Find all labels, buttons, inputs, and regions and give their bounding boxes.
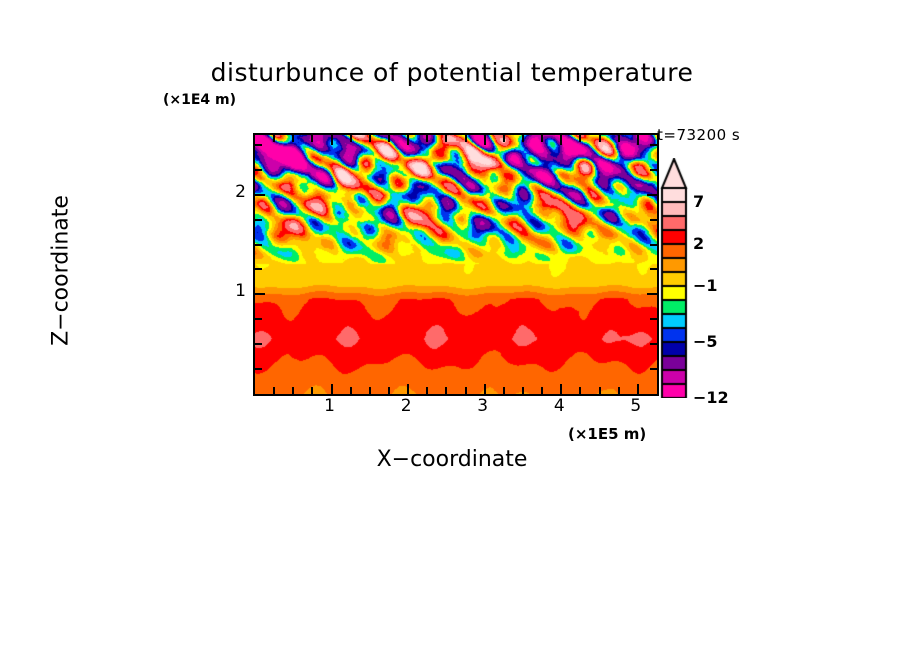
x-minor-tick-top bbox=[579, 135, 581, 142]
x-minor-tick bbox=[292, 387, 294, 394]
figure-canvas: disturbunce of potential temperature (×1… bbox=[0, 0, 904, 654]
x-minor-tick bbox=[541, 387, 543, 394]
x-axis-unit-label: (×1E5 m) bbox=[568, 425, 646, 443]
y-major-tick bbox=[255, 293, 265, 295]
y-minor-tick-right bbox=[650, 169, 657, 171]
x-major-tick bbox=[560, 384, 562, 394]
y-minor-tick-right bbox=[650, 144, 657, 146]
y-major-tick bbox=[255, 194, 265, 196]
x-tick-label: 4 bbox=[539, 396, 579, 416]
x-major-tick bbox=[484, 384, 486, 394]
y-minor-tick bbox=[255, 144, 262, 146]
x-major-tick bbox=[407, 384, 409, 394]
x-minor-tick-top bbox=[465, 135, 467, 142]
y-tick-label: 1 bbox=[216, 281, 246, 301]
x-major-tick-top bbox=[560, 135, 562, 145]
colorbar-tick-label: −5 bbox=[693, 332, 718, 351]
x-minor-tick bbox=[311, 387, 313, 394]
y-minor-tick-right bbox=[650, 343, 657, 345]
x-major-tick-top bbox=[484, 135, 486, 145]
x-tick-label: 5 bbox=[616, 396, 656, 416]
x-minor-tick-top bbox=[503, 135, 505, 142]
x-minor-tick-top bbox=[445, 135, 447, 142]
x-major-tick-top bbox=[407, 135, 409, 145]
x-minor-tick bbox=[465, 387, 467, 394]
x-minor-tick bbox=[369, 387, 371, 394]
x-major-tick bbox=[637, 384, 639, 394]
x-minor-tick bbox=[388, 387, 390, 394]
y-minor-tick-right bbox=[650, 318, 657, 320]
x-major-tick bbox=[331, 384, 333, 394]
x-minor-tick-top bbox=[388, 135, 390, 142]
x-minor-tick-top bbox=[292, 135, 294, 142]
y-major-tick-right bbox=[647, 293, 657, 295]
x-minor-tick-top bbox=[426, 135, 428, 142]
y-major-tick-right bbox=[647, 194, 657, 196]
y-minor-tick bbox=[255, 318, 262, 320]
x-minor-tick-top bbox=[273, 135, 275, 142]
x-minor-tick bbox=[618, 387, 620, 394]
colorbar-tick-label: 7 bbox=[693, 192, 704, 211]
x-minor-tick-top bbox=[599, 135, 601, 142]
x-minor-tick bbox=[445, 387, 447, 394]
y-minor-tick-right bbox=[650, 244, 657, 246]
y-axis-title: Z−coordinate bbox=[49, 161, 74, 381]
x-minor-tick bbox=[503, 387, 505, 394]
page-title: disturbunce of potential temperature bbox=[0, 58, 904, 87]
y-minor-tick-right bbox=[650, 268, 657, 270]
x-tick-label: 1 bbox=[310, 396, 350, 416]
x-minor-tick bbox=[350, 387, 352, 394]
y-minor-tick bbox=[255, 268, 262, 270]
y-minor-tick bbox=[255, 368, 262, 370]
x-minor-tick-top bbox=[618, 135, 620, 142]
colorbar-tick-label: 2 bbox=[693, 234, 704, 253]
x-major-tick-top bbox=[637, 135, 639, 145]
colorbar-canvas bbox=[659, 158, 689, 398]
x-minor-tick-top bbox=[541, 135, 543, 142]
x-minor-tick-top bbox=[350, 135, 352, 142]
y-minor-tick bbox=[255, 244, 262, 246]
x-major-tick-top bbox=[331, 135, 333, 145]
y-minor-tick bbox=[255, 219, 262, 221]
y-axis-unit-label: (×1E4 m) bbox=[163, 92, 236, 108]
x-minor-tick bbox=[599, 387, 601, 394]
x-tick-label: 2 bbox=[386, 396, 426, 416]
contour-field-canvas bbox=[255, 135, 657, 394]
y-minor-tick bbox=[255, 169, 262, 171]
x-minor-tick bbox=[579, 387, 581, 394]
x-tick-label: 3 bbox=[463, 396, 503, 416]
y-minor-tick-right bbox=[650, 219, 657, 221]
x-minor-tick-top bbox=[369, 135, 371, 142]
contour-plot-area bbox=[253, 133, 659, 396]
x-minor-tick bbox=[522, 387, 524, 394]
y-tick-label: 2 bbox=[216, 182, 246, 202]
x-minor-tick-top bbox=[522, 135, 524, 142]
x-minor-tick bbox=[273, 387, 275, 394]
timestamp-label: t=73200 s bbox=[657, 126, 740, 144]
x-minor-tick bbox=[426, 387, 428, 394]
x-minor-tick-top bbox=[311, 135, 313, 142]
colorbar-tick-label: −12 bbox=[693, 388, 729, 407]
colorbar-tick-label: −1 bbox=[693, 276, 718, 295]
x-axis-title: X−coordinate bbox=[0, 447, 904, 472]
colorbar bbox=[659, 158, 689, 398]
y-minor-tick bbox=[255, 343, 262, 345]
y-minor-tick-right bbox=[650, 368, 657, 370]
